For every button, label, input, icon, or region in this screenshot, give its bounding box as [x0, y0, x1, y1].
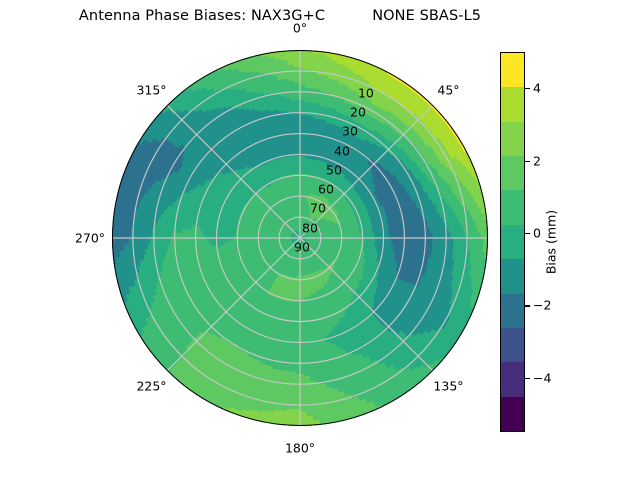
- radial-tick-label-70: 70: [310, 201, 326, 216]
- figure-canvas: Antenna Phase Biases: NAX3G+C NONE SBAS-…: [0, 0, 640, 480]
- colorbar-band-3: [501, 294, 524, 328]
- radial-tick-label-30: 30: [342, 124, 358, 139]
- angular-tick-label-135: 135°: [433, 379, 463, 394]
- colorbar-band-0: [501, 397, 524, 431]
- angular-tick-label-270: 270°: [75, 231, 105, 246]
- colorbar-gradient: [500, 52, 525, 432]
- colorbar-tick-mark-0: [525, 378, 530, 379]
- radial-tick-label-50: 50: [326, 162, 342, 177]
- colorbar-band-8: [501, 122, 524, 156]
- colorbar-tick-label-1: −2: [533, 298, 551, 313]
- radial-tick-label-60: 60: [318, 182, 334, 197]
- angular-tick-label-225: 225°: [136, 379, 166, 394]
- angular-tick-label-45: 45°: [437, 82, 459, 97]
- chart-title: Antenna Phase Biases: NAX3G+C NONE SBAS-…: [0, 8, 560, 24]
- colorbar-axis-label: Bias (mm): [544, 210, 559, 274]
- radial-tick-label-40: 40: [334, 143, 350, 158]
- angular-tick-label-180: 180°: [285, 441, 315, 456]
- radial-tick-label-90: 90: [294, 240, 310, 255]
- polar-contour-svg: [112, 50, 488, 426]
- colorbar-tick-mark-2: [525, 233, 530, 234]
- colorbar-band-6: [501, 190, 524, 224]
- colorbar-tick-label-0: −4: [533, 370, 551, 385]
- colorbar-band-4: [501, 259, 524, 293]
- colorbar-band-5: [501, 225, 524, 259]
- colorbar-tick-label-4: 4: [533, 81, 541, 96]
- colorbar-band-7: [501, 156, 524, 190]
- radial-tick-label-10: 10: [358, 85, 374, 100]
- radial-tick-label-80: 80: [302, 220, 318, 235]
- colorbar: −4−2024: [500, 52, 525, 432]
- colorbar-band-1: [501, 362, 524, 396]
- angular-tick-label-0: 0°: [293, 21, 307, 36]
- colorbar-band-10: [501, 53, 524, 87]
- colorbar-tick-mark-1: [525, 305, 530, 306]
- polar-axes: [112, 50, 488, 426]
- colorbar-tick-mark-3: [525, 161, 530, 162]
- colorbar-tick-label-3: 2: [533, 153, 541, 168]
- colorbar-band-9: [501, 87, 524, 121]
- colorbar-band-2: [501, 328, 524, 362]
- radial-tick-label-20: 20: [350, 104, 366, 119]
- angular-tick-label-315: 315°: [136, 82, 166, 97]
- polar-contour-area: [112, 50, 488, 426]
- colorbar-tick-label-2: 0: [533, 225, 541, 240]
- colorbar-tick-mark-4: [525, 88, 530, 89]
